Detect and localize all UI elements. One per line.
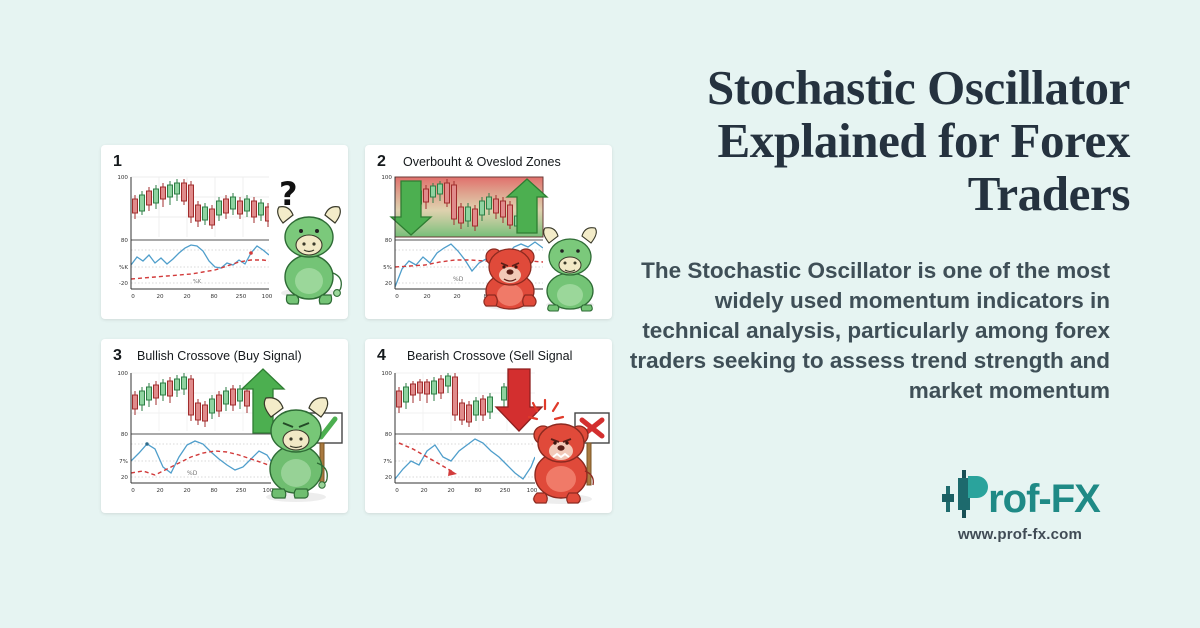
logo-lockup: rof-FX bbox=[930, 468, 1110, 520]
panel-3-xtick-0: 0 bbox=[131, 488, 135, 494]
green-bull-mascot bbox=[278, 207, 342, 304]
panel-3-xtick-2: 20 bbox=[183, 488, 191, 494]
panel-2-ytick-1: 80 bbox=[385, 238, 393, 244]
panel-4-chart: 100 80 7% 20 0 20 20 80 250 100 bbox=[365, 339, 612, 513]
panel-3-xtick-4: 250 bbox=[236, 488, 247, 494]
panel-4-xtick-2: 20 bbox=[447, 488, 455, 494]
panel-2-xtick-0: 0 bbox=[395, 294, 399, 300]
panel-1-xtick-3: 80 bbox=[210, 294, 218, 300]
red-bear-with-x-sign bbox=[529, 400, 609, 504]
panel-3-d-label: %D bbox=[187, 470, 198, 477]
panel-2[interactable]: 2 Overbouht & Oveslod Zones bbox=[365, 145, 612, 319]
panel-2-ytick-3: 20 bbox=[385, 281, 393, 287]
panel-3[interactable]: 3 Bullish Crossove (Buy Signal) bbox=[101, 339, 348, 513]
panel-3-xtick-1: 20 bbox=[156, 488, 164, 494]
panel-4-ytick-0: 100 bbox=[381, 371, 392, 377]
panel-3-ytick-0: 100 bbox=[117, 371, 128, 377]
panel-3-ytick-2: 7% bbox=[119, 459, 128, 465]
panel-1-ytick-1: 80 bbox=[121, 238, 129, 244]
panel-1-xtick-5: 100 bbox=[262, 294, 273, 300]
panel-1-xtick-4: 250 bbox=[236, 294, 247, 300]
panel-2-ytick-0: 100 bbox=[381, 175, 392, 181]
panel-4-ytick-3: 20 bbox=[385, 475, 393, 481]
page-title: Stochastic Oscillator Explained for Fore… bbox=[600, 62, 1130, 221]
green-bull-with-check-sign bbox=[264, 398, 342, 502]
panel-4-xtick-4: 250 bbox=[500, 488, 511, 494]
panel-2-xtick-1: 20 bbox=[423, 294, 431, 300]
panel-2-xtick-2: 20 bbox=[453, 294, 461, 300]
panel-3-xtick-3: 80 bbox=[210, 488, 218, 494]
panel-2-chart: %D 100 80 5% 20 0 20 20 80 bbox=[365, 145, 612, 319]
panel-4[interactable]: 4 Bearish Crossove (Sell Signal bbox=[365, 339, 612, 513]
panel-2-d-label: %D bbox=[453, 276, 464, 283]
panel-3-chart: %D 100 80 7% 20 0 20 20 80 250 100 bbox=[101, 339, 348, 513]
panel-1[interactable]: 1 bbox=[101, 145, 348, 319]
panel-3-ytick-3: 20 bbox=[121, 475, 129, 481]
panel-3-ytick-1: 80 bbox=[121, 432, 129, 438]
panel-1-ytick-0: 100 bbox=[117, 175, 128, 181]
logo-url: www.prof-fx.com bbox=[930, 526, 1110, 543]
candlestick-p-icon bbox=[940, 468, 992, 520]
panel-4-xtick-0: 0 bbox=[395, 488, 399, 494]
panel-2-ytick-2: 5% bbox=[383, 265, 392, 271]
panel-1-k-label: %K bbox=[193, 279, 202, 285]
panel-1-xtick-2: 20 bbox=[183, 294, 191, 300]
panel-4-ytick-1: 80 bbox=[385, 432, 393, 438]
panel-1-ytick-2: %K bbox=[119, 265, 128, 271]
poster-canvas: Stochastic Oscillator Explained for Fore… bbox=[0, 0, 1200, 628]
red-bear-mascot bbox=[484, 249, 536, 310]
panel-1-xtick-1: 20 bbox=[156, 294, 164, 300]
panel-1-ytick-3: -20 bbox=[119, 281, 129, 287]
hero-description: The Stochastic Oscillator is one of the … bbox=[620, 256, 1110, 406]
panel-4-ytick-2: 7% bbox=[383, 459, 392, 465]
panel-1-chart: %K 100 80 %K -20 0 20 20 80 250 100 ? bbox=[101, 145, 348, 319]
panel-4-xtick-1: 20 bbox=[420, 488, 428, 494]
brand-logo[interactable]: rof-FX www.prof-fx.com bbox=[930, 468, 1110, 543]
panel-4-xtick-3: 80 bbox=[474, 488, 482, 494]
green-bull-mascot-small bbox=[544, 228, 597, 311]
logo-wordmark: rof-FX bbox=[988, 479, 1100, 519]
panel-1-xtick-0: 0 bbox=[131, 294, 135, 300]
